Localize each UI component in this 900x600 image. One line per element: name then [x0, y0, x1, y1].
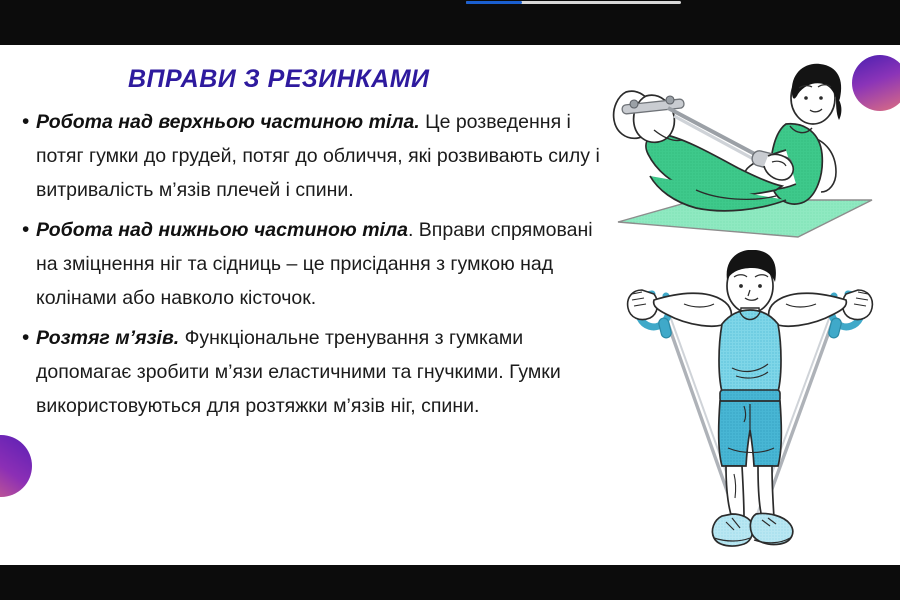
- presentation-slide: ВПРАВИ З РЕЗИНКАМИ • Робота над верхньою…: [0, 45, 900, 565]
- bullet-lead: Робота над верхньою частиною тіла.: [36, 111, 420, 133]
- bullet-lead: Розтяг м’язів.: [36, 327, 179, 349]
- bullet-lead: Робота над нижньою частиною тіла: [36, 219, 408, 241]
- bullet-text: Робота над нижньою частиною тіла. Вправи…: [36, 213, 616, 315]
- gradient-circle-bottom-left-icon: [0, 435, 32, 497]
- standing-lateral-raise-illustration: [610, 250, 890, 560]
- bullet-text: Розтяг м’язів. Функціональне тренування …: [36, 321, 616, 423]
- bullet-item: • Розтяг м’язів. Функціональне тренуванн…: [16, 321, 616, 423]
- bullet-text: Робота над верхньою частиною тіла. Це ро…: [36, 105, 616, 207]
- bullet-marker-icon: •: [16, 105, 36, 207]
- seated-resistance-band-row-illustration: [600, 50, 890, 265]
- bullet-marker-icon: •: [16, 321, 36, 423]
- player-top-chrome: [0, 0, 900, 45]
- slide-body: • Робота над верхньою частиною тіла. Це …: [16, 105, 616, 429]
- bullet-item: • Робота над верхньою частиною тіла. Це …: [16, 105, 616, 207]
- slide-title: ВПРАВИ З РЕЗИНКАМИ: [128, 65, 430, 94]
- bullet-marker-icon: •: [16, 213, 36, 315]
- player-bottom-chrome: [0, 565, 900, 600]
- seek-bar[interactable]: [466, 1, 681, 4]
- seek-bar-progress: [466, 1, 522, 4]
- bullet-item: • Робота над нижньою частиною тіла. Впра…: [16, 213, 616, 315]
- video-player: ВПРАВИ З РЕЗИНКАМИ • Робота над верхньою…: [0, 0, 900, 600]
